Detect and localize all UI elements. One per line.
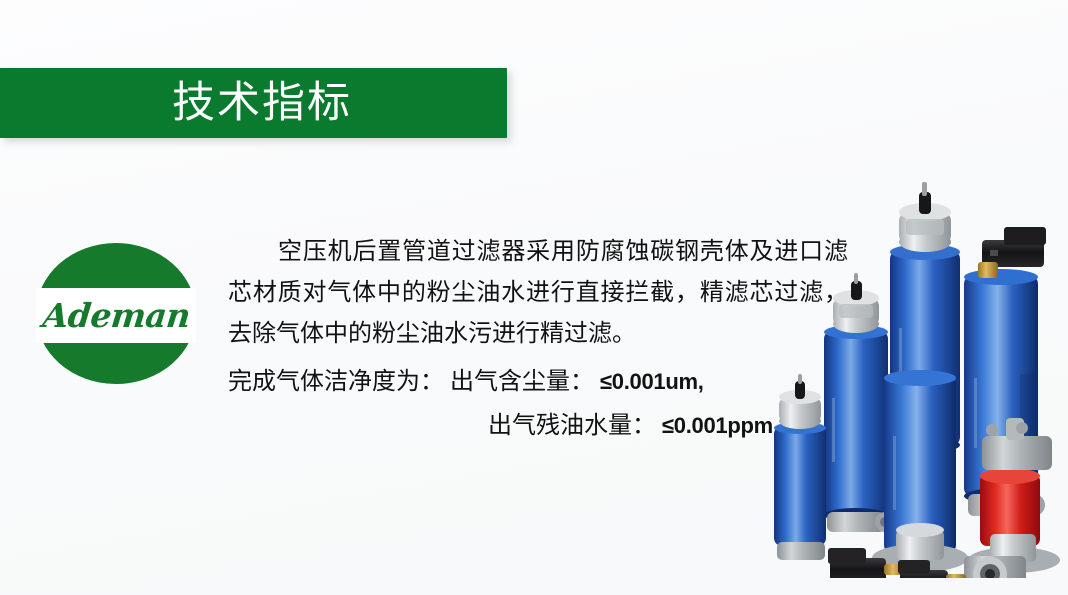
port-block bbox=[964, 556, 1026, 578]
spec-value-oil: ≤0.001ppm bbox=[662, 413, 773, 438]
page-title: 技术指标 bbox=[172, 82, 352, 125]
logo-wordmark: Ademan bbox=[41, 299, 191, 332]
spec-label-dust: 出气含尘量： bbox=[450, 369, 594, 395]
spec-label-oil: 出气残油水量： bbox=[488, 413, 656, 439]
slide-canvas: 技术指标 Ademan 空压机后置管道过滤器采用防腐蚀碳钢壳体及进口滤芯材质对气… bbox=[0, 0, 1068, 595]
filter-unit-front-left-small bbox=[774, 374, 826, 560]
spec-value-dust: ≤0.001um, bbox=[600, 369, 704, 394]
product-photo bbox=[768, 178, 1068, 578]
body-paragraph: 空压机后置管道过滤器采用防腐蚀碳钢壳体及进口滤芯材质对气体中的粉尘油水进行直接拦… bbox=[228, 232, 848, 355]
title-banner: 技术指标 bbox=[0, 68, 507, 138]
drain-valve-mid-left bbox=[833, 273, 879, 333]
logo-white-band: Ademan bbox=[36, 288, 196, 343]
manifold-head bbox=[982, 418, 1052, 470]
spec-lead-label: 完成气体洁净度为： bbox=[228, 369, 444, 395]
drain-valve-center-tall bbox=[899, 182, 951, 252]
brand-logo: Ademan bbox=[36, 243, 196, 384]
body-copy-block: 空压机后置管道过滤器采用防腐蚀碳钢壳体及进口滤芯材质对气体中的粉尘油水进行直接拦… bbox=[228, 232, 848, 355]
drain-valve-front-left-small bbox=[779, 374, 821, 429]
